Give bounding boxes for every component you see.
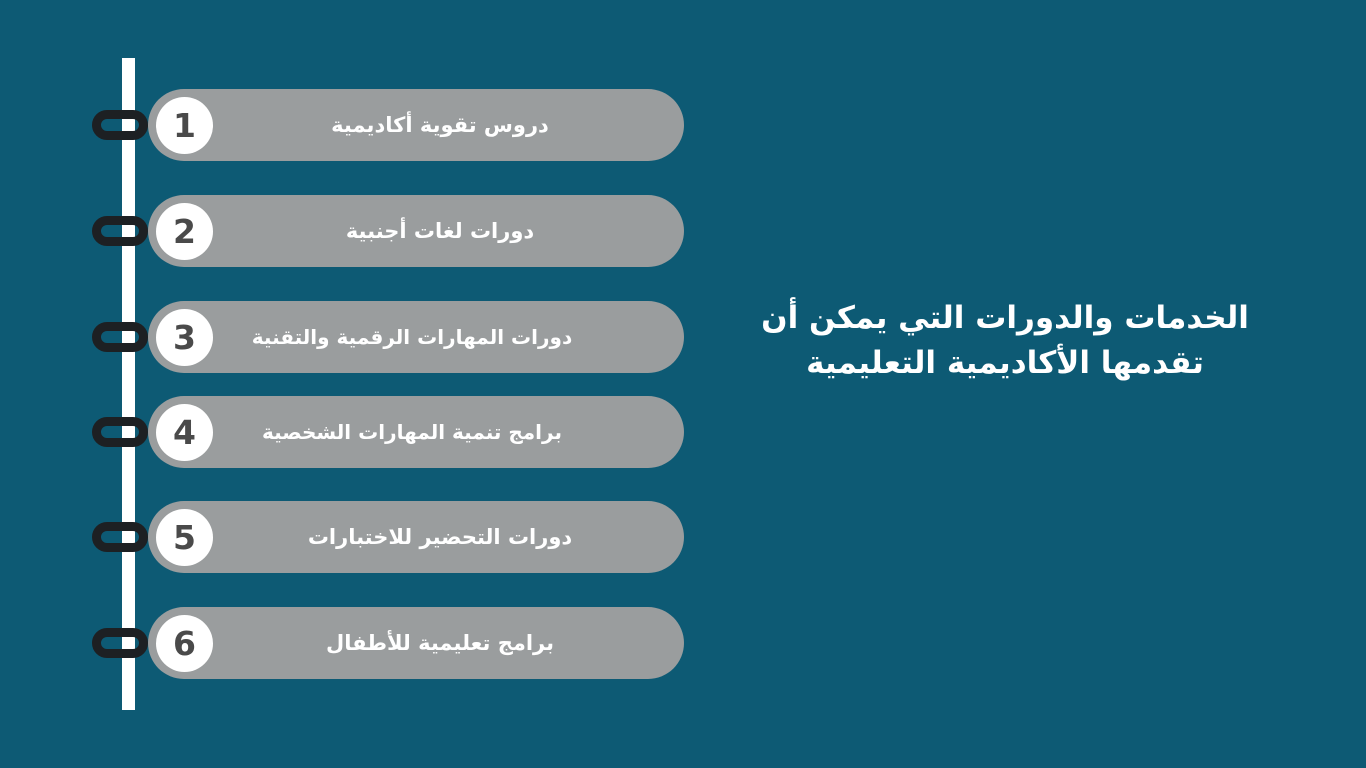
list-item[interactable]: برامج تعليمية للأطفال 6 [148,607,684,679]
list-item[interactable]: دورات التحضير للاختبارات 5 [148,501,684,573]
binder-ring-icon [92,110,148,140]
list-item-label: دروس تقوية أكاديمية [218,113,662,137]
list-item[interactable]: دورات لغات أجنبية 2 [148,195,684,267]
binder-ring-icon [92,216,148,246]
list-item-number-badge: 6 [156,615,213,672]
binder-ring-icon [92,522,148,552]
binder-ring-icon [92,322,148,352]
list-item-number-badge: 1 [156,97,213,154]
list-item[interactable]: برامج تنمية المهارات الشخصية 4 [148,396,684,468]
list-item-label: برامج تعليمية للأطفال [218,631,662,655]
list-item[interactable]: دروس تقوية أكاديمية 1 [148,89,684,161]
binder-ring-icon [92,628,148,658]
binder-ring-icon [92,417,148,447]
list-item[interactable]: دورات المهارات الرقمية والتقنية 3 [148,301,684,373]
list-item-label: برامج تنمية المهارات الشخصية [162,420,662,444]
list-item-number-badge: 5 [156,509,213,566]
list-item-number-badge: 3 [156,309,213,366]
infographic-canvas: دروس تقوية أكاديمية 1 دورات لغات أجنبية … [0,0,1366,768]
binder-bar [122,58,135,710]
list-item-number-badge: 2 [156,203,213,260]
page-title: الخدمات والدورات التي يمكن أن تقدمها الأ… [720,296,1290,386]
list-item-label: دورات المهارات الرقمية والتقنية [162,325,662,349]
list-item-label: دورات التحضير للاختبارات [218,525,662,549]
list-item-label: دورات لغات أجنبية [218,219,662,243]
list-item-number-badge: 4 [156,404,213,461]
